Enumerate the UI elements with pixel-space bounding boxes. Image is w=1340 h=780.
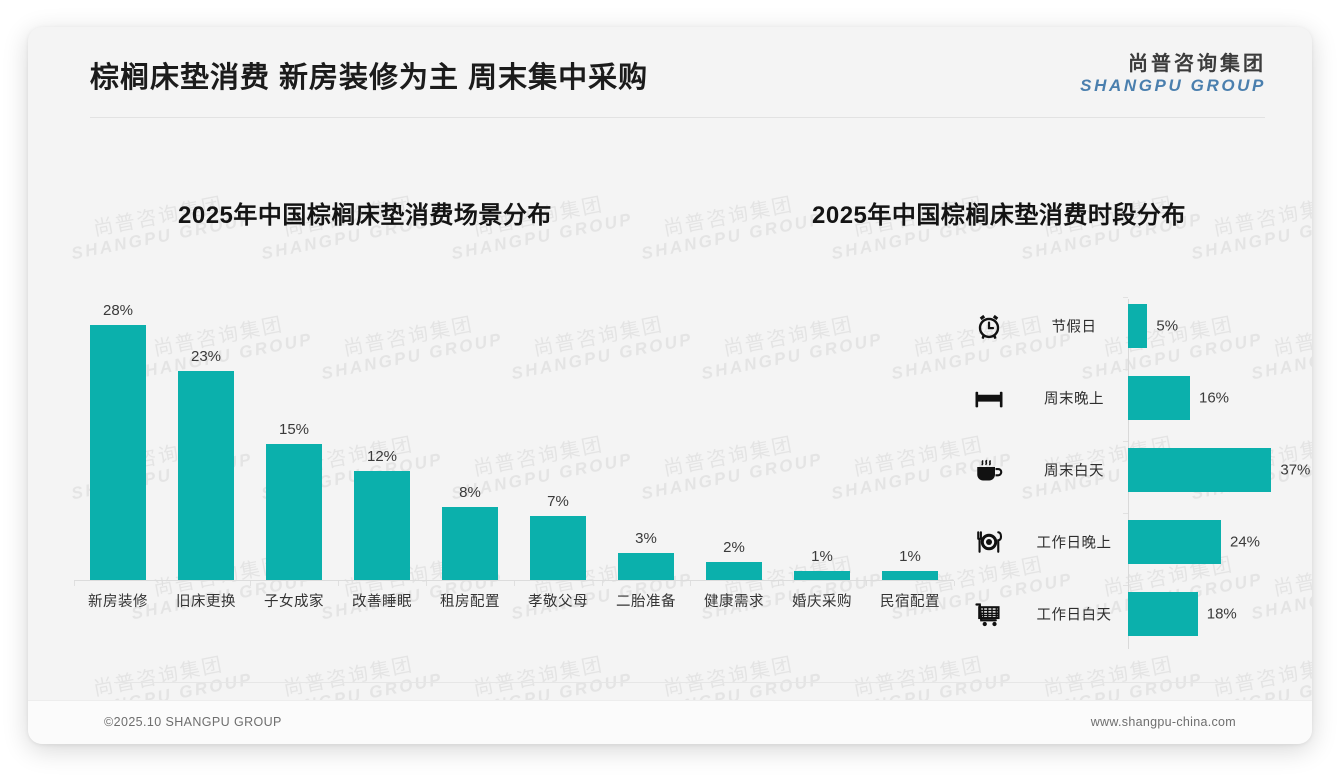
axis-tick [778,581,779,586]
axis-tick [690,581,691,586]
dining-plate-icon [972,525,1006,559]
bar[interactable] [530,516,586,580]
axis-tick [514,581,515,586]
bar[interactable] [1128,448,1271,492]
category-label: 节假日 [1026,316,1122,337]
bar-value-label: 37% [1280,462,1310,479]
bar-column: 1% [866,272,954,580]
alarm-clock-icon [972,309,1006,343]
category-label: 婚庆采购 [778,590,866,611]
header-divider [90,117,1265,118]
bar-value-label: 1% [778,548,866,565]
category-label: 孝敬父母 [514,590,602,611]
axis-tick [1123,297,1128,298]
copyright-text: ©2025.10 SHANGPU GROUP [104,715,282,729]
category-label: 旧床更换 [162,590,250,611]
bar[interactable] [178,371,234,580]
bar-column: 28% [74,272,162,580]
bar-value-label: 5% [1156,318,1178,335]
bar-value-label: 3% [602,530,690,547]
bar[interactable] [266,444,322,581]
axis-tick [250,581,251,586]
axis-tick [1123,513,1128,514]
bar-value-label: 18% [1207,606,1237,623]
axis-tick [162,581,163,586]
bar[interactable] [618,553,674,580]
category-label: 工作日白天 [1026,604,1122,625]
consumption-time-bar-chart: 节假日5%周末晚上16%周末白天37%工作日晚上24%工作日白天18% [958,289,1288,659]
category-label: 子女成家 [250,590,338,611]
category-label: 二胎准备 [602,590,690,611]
logo-chinese-text: 尚普咨询集团 [1080,53,1266,76]
bar-value-label: 2% [690,539,778,556]
header: 棕榈床垫消费 新房装修为主 周末集中采购 尚普咨询集团 SHANGPU GROU… [28,27,1312,119]
bar-column: 1% [778,272,866,580]
bar[interactable] [882,571,938,580]
right-chart-title: 2025年中国棕榈床垫消费时段分布 [812,195,1186,230]
bar-column: 15% [250,272,338,580]
bar-column: 23% [162,272,250,580]
bar-value-label: 7% [514,493,602,510]
bar-column: 12% [338,272,426,580]
bar[interactable] [442,507,498,580]
bar-column: 2% [690,272,778,580]
footer-bar: ©2025.10 SHANGPU GROUP www.shangpu-china… [28,700,1312,744]
category-label: 工作日晚上 [1026,532,1122,553]
category-label: 周末晚上 [1026,388,1122,409]
shopping-cart-icon [972,597,1006,631]
category-label: 租房配置 [426,590,514,611]
brand-logo: 尚普咨询集团 SHANGPU GROUP [1080,53,1266,96]
bed-icon [972,381,1006,415]
category-label: 改善睡眠 [338,590,426,611]
axis-tick [602,581,603,586]
axis-tick [338,581,339,586]
coffee-cup-icon [972,453,1006,487]
axis-tick [954,581,955,586]
left-chart-title: 2025年中国棕榈床垫消费场景分布 [178,195,552,230]
axis-tick [1123,369,1128,370]
axis-tick [74,581,75,586]
website-link[interactable]: www.shangpu-china.com [1091,715,1236,729]
bar-value-label: 23% [162,348,250,365]
vertical-bars-plot-area: 28%23%15%12%8%7%3%2%1%1% [74,272,954,580]
bar[interactable] [1128,592,1198,636]
bar-row: 周末晚上16% [958,369,1288,427]
bar-row: 周末白天37% [958,441,1288,499]
bar[interactable] [354,471,410,580]
bar-column: 3% [602,272,690,580]
infographic-page: 尚普咨询集团SHANGPU GROUP尚普咨询集团SHANGPU GROUP尚普… [28,27,1312,744]
logo-english-text: SHANGPU GROUP [1080,76,1266,96]
watermark: 尚普咨询集团SHANGPU GROUP [1186,190,1312,263]
category-label: 民宿配置 [866,590,954,611]
bar-row: 工作日白天18% [958,585,1288,643]
bar-value-label: 28% [74,302,162,319]
bar[interactable] [706,562,762,580]
footnote-divider [114,682,1226,683]
bar[interactable] [794,571,850,580]
bar[interactable] [1128,376,1190,420]
axis-tick [1123,585,1128,586]
bar-value-label: 16% [1199,390,1229,407]
axis-tick [1123,441,1128,442]
bar[interactable] [90,325,146,580]
bar-value-label: 15% [250,421,338,438]
watermark: 尚普咨询集团SHANGPU GROUP [636,190,825,263]
category-label: 新房装修 [74,590,162,611]
bar-row: 工作日晚上24% [958,513,1288,571]
bar-value-label: 1% [866,548,954,565]
page-title: 棕榈床垫消费 新房装修为主 周末集中采购 [90,54,648,96]
consumption-scenario-bar-chart: 28%23%15%12%8%7%3%2%1%1% 新房装修旧床更换子女成家改善睡… [74,272,954,617]
axis-tick [866,581,867,586]
axis-tick [426,581,427,586]
bar-value-label: 12% [338,448,426,465]
category-label: 周末白天 [1026,460,1122,481]
bar[interactable] [1128,520,1221,564]
bar-column: 7% [514,272,602,580]
bar[interactable] [1128,304,1147,348]
bar-column: 8% [426,272,514,580]
bar-value-label: 24% [1230,534,1260,551]
bar-row: 节假日5% [958,297,1288,355]
bar-value-label: 8% [426,484,514,501]
category-label: 健康需求 [690,590,778,611]
